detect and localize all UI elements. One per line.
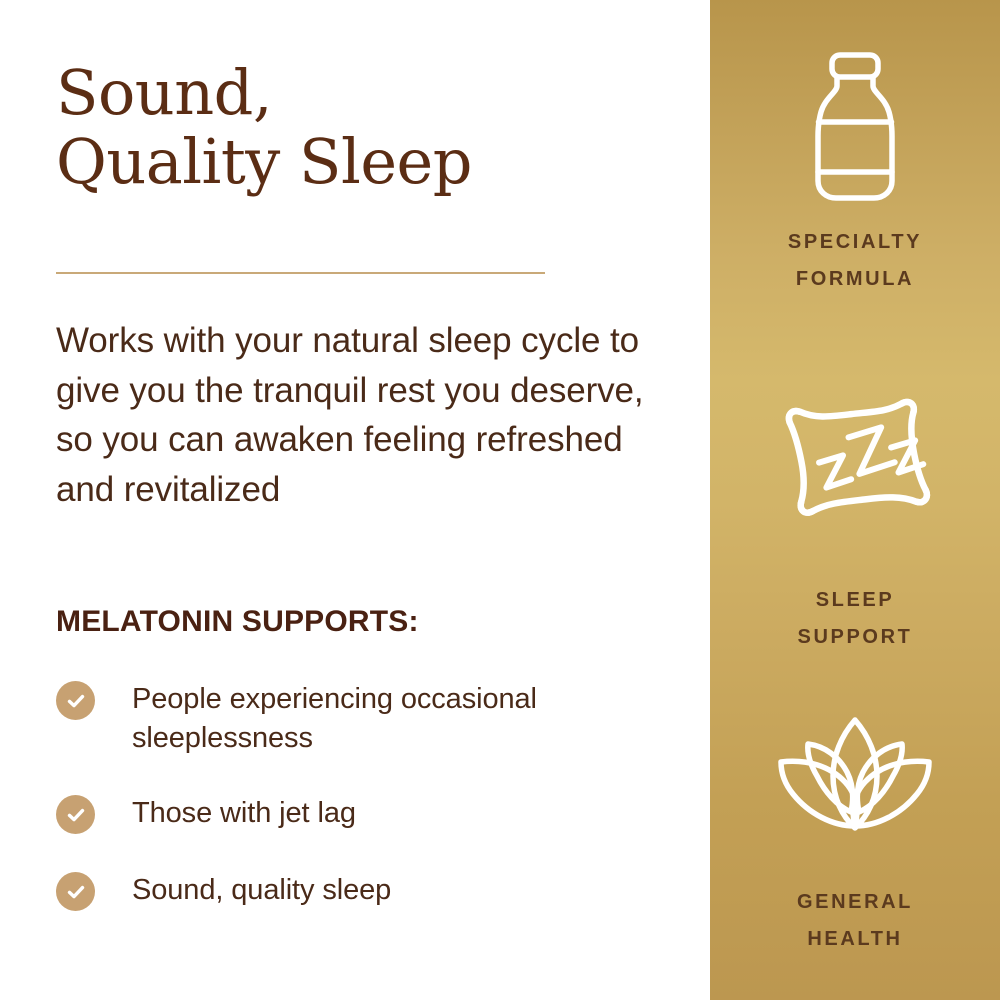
sidebar-item-label-line-2: FORMULA [710, 261, 1000, 298]
title-divider [56, 272, 545, 274]
list-item-label: People experiencing occasional sleepless… [132, 678, 676, 757]
page-title-line-2: Quality Sleep [56, 127, 676, 196]
sidebar-item-label-line-1: SPECIALTY [710, 224, 1000, 261]
check-icon [56, 872, 95, 911]
left-content-panel: Sound, Quality Sleep Works with your nat… [0, 0, 710, 1000]
list-item-label: Those with jet lag [132, 792, 356, 833]
check-icon [56, 795, 95, 834]
page-title: Sound, Quality Sleep [56, 58, 676, 197]
sidebar-item-label: SPECIALTY FORMULA [710, 224, 1000, 298]
sidebar-item-label: SLEEP SUPPORT [710, 582, 1000, 656]
benefits-sidebar: SPECIALTY FORMULA [710, 0, 1000, 1000]
sidebar-item-label-line-1: GENERAL [710, 884, 1000, 921]
page-title-line-1: Sound, [56, 58, 676, 127]
sidebar-item-specialty-formula: SPECIALTY FORMULA [710, 48, 1000, 298]
list-item: Sound, quality sleep [56, 869, 676, 911]
pillow-zzz-icon [710, 396, 1000, 546]
sidebar-item-label-line-1: SLEEP [710, 582, 1000, 619]
list-item-label: Sound, quality sleep [132, 869, 391, 910]
intro-paragraph: Works with your natural sleep cycle to g… [56, 316, 666, 515]
supports-heading: MELATONIN SUPPORTS: [56, 605, 419, 639]
sidebar-item-sleep-support: SLEEP SUPPORT [710, 396, 1000, 656]
sidebar-item-general-health: GENERAL HEALTH [710, 712, 1000, 958]
list-item: People experiencing occasional sleepless… [56, 678, 676, 757]
sidebar-item-label: GENERAL HEALTH [710, 884, 1000, 958]
sidebar-item-label-line-2: SUPPORT [710, 619, 1000, 656]
supports-list: People experiencing occasional sleepless… [56, 678, 676, 911]
check-icon [56, 681, 95, 720]
list-item: Those with jet lag [56, 792, 676, 834]
promo-card: Sound, Quality Sleep Works with your nat… [0, 0, 1000, 1000]
lotus-flower-icon [710, 712, 1000, 842]
supplement-bottle-icon [710, 48, 1000, 208]
sidebar-item-label-line-2: HEALTH [710, 921, 1000, 958]
